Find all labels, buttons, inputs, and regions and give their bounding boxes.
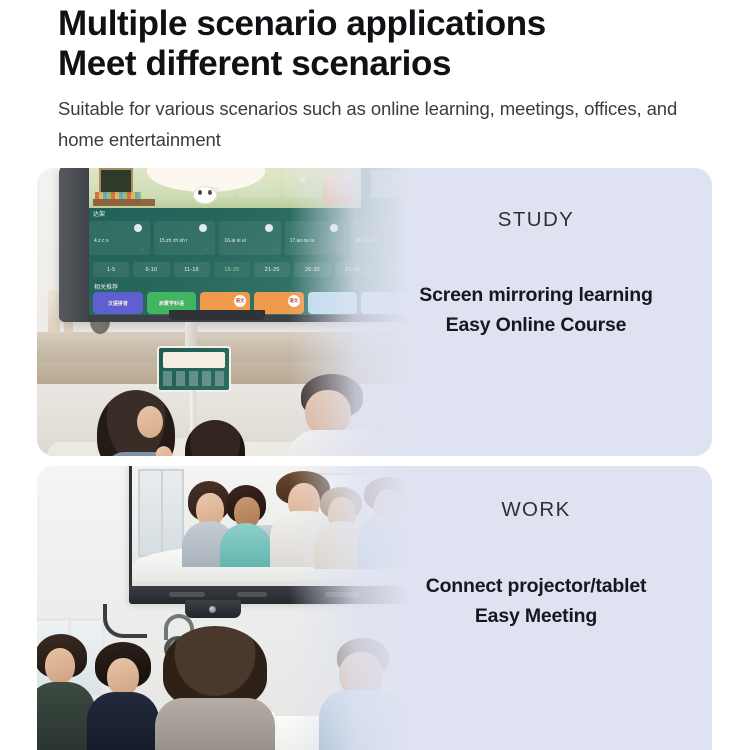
fullscreen-caption: 全屏	[210, 187, 219, 193]
person-attendee	[37, 634, 87, 750]
headline-line-2: Meet different scenarios	[58, 44, 750, 84]
headline-line-1: Multiple scenario applications	[58, 4, 750, 44]
scenario-card-study: 我上学了 达架 ⛶ 全屏 ♡ 收藏	[37, 168, 712, 456]
page-subtitle: Suitable for various scenarios such as o…	[58, 93, 718, 155]
episode-range-tab[interactable]: 1-5	[93, 262, 129, 277]
bar-vent	[237, 592, 267, 597]
recommend-tile-title: 汉语拼音	[108, 300, 128, 307]
subject-badge: 语文	[234, 295, 246, 307]
lock-icon	[199, 224, 207, 232]
recommend-section-title: 相关推荐	[94, 282, 118, 291]
displayed-person	[226, 485, 266, 567]
page-title: Multiple scenario applications Meet diff…	[58, 4, 750, 84]
person-attendee-back	[163, 626, 267, 750]
study-scene-photo: 我上学了 达架 ⛶ 全屏 ♡ 收藏	[37, 168, 409, 456]
lesson-card-sub: ···	[140, 247, 144, 252]
shelf-label	[93, 199, 155, 206]
child-hair	[185, 420, 245, 456]
scene-tag-study: STUDY	[386, 208, 686, 232]
tv-soundbar	[169, 310, 265, 320]
lesson-card[interactable]: 16.ai ei ui ···	[219, 221, 280, 255]
study-line-2: Easy Online Course	[386, 310, 686, 340]
study-copy-block: STUDY Screen mirroring learning Easy Onl…	[386, 208, 686, 340]
page-header: Multiple scenario applications Meet diff…	[0, 0, 750, 155]
fullscreen-icon[interactable]: ⛶ 全屏	[195, 170, 235, 198]
scene-description-study: Screen mirroring learning Easy Online Co…	[386, 280, 686, 340]
attendee-face	[107, 658, 139, 696]
heart-icon[interactable]: ♡ 收藏	[239, 170, 279, 198]
work-copy-block: WORK Connect projector/tablet Easy Meeti…	[386, 498, 686, 631]
product-feature-page: Multiple scenario applications Meet diff…	[0, 0, 750, 750]
episode-range-tab[interactable]: 21-25	[254, 262, 290, 277]
lesson-card[interactable]: 15.zh ch sh r ···	[154, 221, 215, 255]
camera-cable	[103, 604, 147, 638]
tv-show-label: 达架	[93, 209, 105, 218]
work-scene-photo	[37, 466, 409, 750]
person-child	[185, 420, 245, 456]
scene-tag-work: WORK	[386, 498, 686, 522]
episode-range-tab-selected[interactable]: 16-20	[214, 262, 250, 277]
office-background	[37, 466, 409, 750]
heart-caption: 收藏	[254, 187, 263, 193]
tv-bezel	[59, 168, 89, 322]
recommend-tile-title: 启蒙学科语	[159, 300, 184, 307]
fullscreen-glyph: ⛶	[212, 175, 219, 185]
study-line-1: Screen mirroring learning	[386, 280, 686, 310]
lesson-card-sub: ···	[205, 247, 209, 252]
lesson-card-label: 15.zh ch sh r	[159, 238, 188, 244]
scene-description-work: Connect projector/tablet Easy Meeting	[386, 571, 686, 631]
living-room-background: 我上学了 达架 ⛶ 全屏 ♡ 收藏	[37, 168, 409, 456]
lesson-card-label: 4.z c s	[94, 238, 108, 244]
attendee-body	[155, 698, 275, 750]
work-line-1: Connect projector/tablet	[386, 571, 686, 601]
scenario-card-work: WORK Connect projector/tablet Easy Meeti…	[37, 466, 712, 750]
episode-range-tab[interactable]: 11-15	[174, 262, 210, 277]
attendee-body	[87, 692, 159, 750]
lesson-card-sub: ···	[271, 247, 275, 252]
mother-face	[137, 406, 163, 438]
attendee-hair	[163, 626, 267, 708]
bar-vent	[169, 592, 205, 597]
lesson-card-label: 16.ai ei ui	[224, 238, 245, 244]
recommend-tile[interactable]: 汉语拼音	[93, 292, 143, 314]
episode-range-tab[interactable]: 6-10	[133, 262, 169, 277]
lock-icon	[134, 224, 142, 232]
lesson-card[interactable]: 4.z c s ···	[89, 221, 150, 255]
tablet-screen-header	[163, 352, 225, 368]
lock-icon	[265, 224, 273, 232]
attendee-face	[45, 648, 75, 684]
displayed-window	[138, 469, 184, 557]
work-line-2: Easy Meeting	[386, 601, 686, 631]
chalkboard-icon	[99, 168, 133, 194]
person-attendee	[95, 642, 151, 750]
heart-glyph: ♡	[255, 175, 264, 185]
person-body	[220, 523, 272, 567]
